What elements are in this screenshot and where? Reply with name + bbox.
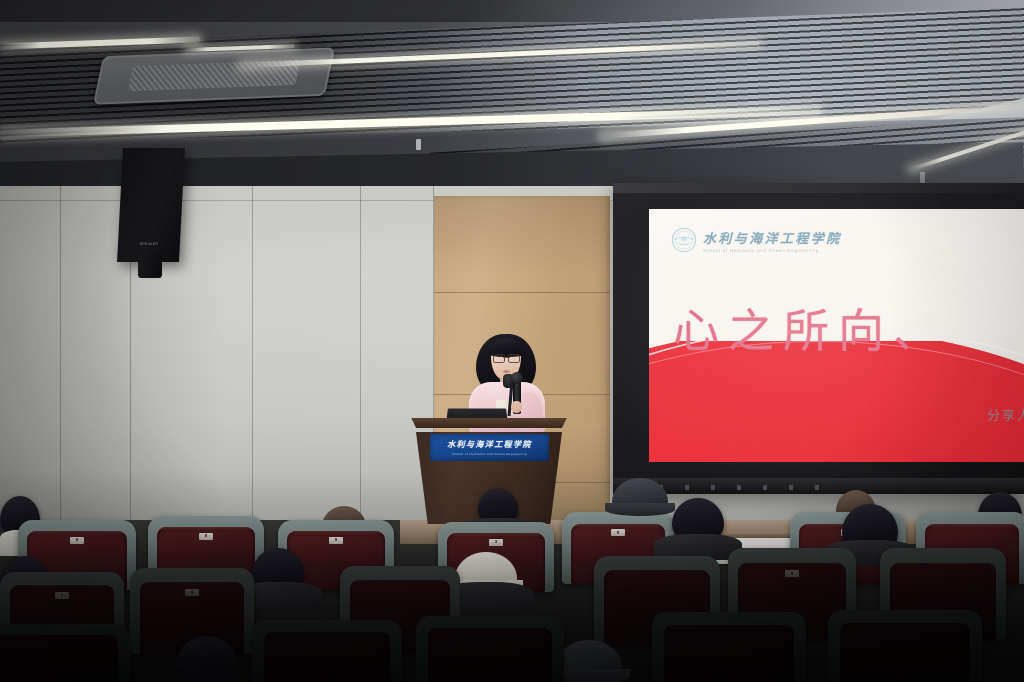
podium-nameplate: 水利与海洋工程学院 School of Hydraulic and Ocean … <box>430 434 549 461</box>
presenter-glasses-icon <box>493 354 520 361</box>
theater-seat[interactable] <box>652 612 806 682</box>
school-emblem-icon <box>671 227 697 253</box>
seat-number-plate: 7 <box>55 592 69 599</box>
lecture-hall-photo: SPEAKER 水利与海洋工程学院 <box>0 0 1024 682</box>
slide-presenter-line: 分享人：韩 <box>987 405 1024 424</box>
theater-seat[interactable] <box>416 616 564 682</box>
screen-control-buttons[interactable] <box>659 485 829 490</box>
presenter-mouth <box>503 370 510 373</box>
seat-number-plate: 5 <box>329 537 343 544</box>
logo-text-block: 水利与海洋工程学院 School of Hydraulic and Ocean … <box>703 228 842 253</box>
podium-nameplate-chinese: 水利与海洋工程学院 <box>447 439 532 450</box>
podium-top-surface <box>408 418 570 428</box>
presenter-hand <box>511 401 522 413</box>
podium-nameplate-english: School of Hydraulic and Ocean Engineerin… <box>452 452 527 456</box>
ceiling-sensor-icon <box>416 139 421 150</box>
screen-control-bar[interactable] <box>613 478 1024 494</box>
seat-number-plate: 9 <box>785 570 799 577</box>
presentation-slide: 水利与海洋工程学院 School of Hydraulic and Ocean … <box>649 209 1024 462</box>
microphone-capsule <box>511 372 523 384</box>
seat-cushion <box>264 632 390 682</box>
logo-english-name: School of Hydraulic and Ocean Engineerin… <box>703 248 842 253</box>
seat-cushion <box>428 628 552 682</box>
wall-mounted-loudspeaker-icon: SPEAKER <box>117 148 185 262</box>
seat-cushion <box>664 625 793 682</box>
loudspeaker-brand-label: SPEAKER <box>140 242 159 246</box>
seat-number-plate: 6 <box>70 537 84 544</box>
screen-bezel-sheen <box>613 183 1024 193</box>
logo-chinese-name: 水利与海洋工程学院 <box>703 228 842 247</box>
glasses-bridge <box>503 357 510 358</box>
theater-seat[interactable] <box>828 610 982 682</box>
seat-cushion <box>0 635 118 682</box>
seat-number-plate: 8 <box>199 533 213 540</box>
projection-screen[interactable]: 水利与海洋工程学院 School of Hydraulic and Ocean … <box>613 183 1024 494</box>
loudspeaker-mount-bracket <box>138 252 162 278</box>
seat-number-plate: 9 <box>611 529 625 536</box>
seat-number-plate: 3 <box>489 539 503 546</box>
ceiling-sensor-icon-secondary <box>920 172 925 183</box>
slide-title: 心之所向、 <box>673 295 948 361</box>
ceiling-cassette-air-conditioner-icon <box>93 47 335 104</box>
theater-seat[interactable] <box>252 620 402 682</box>
seat-number-plate: 4 <box>185 589 199 596</box>
seat-cushion <box>840 623 969 682</box>
theater-seat[interactable] <box>0 624 130 682</box>
slide-school-logo: 水利与海洋工程学院 School of Hydraulic and Ocean … <box>671 227 842 253</box>
